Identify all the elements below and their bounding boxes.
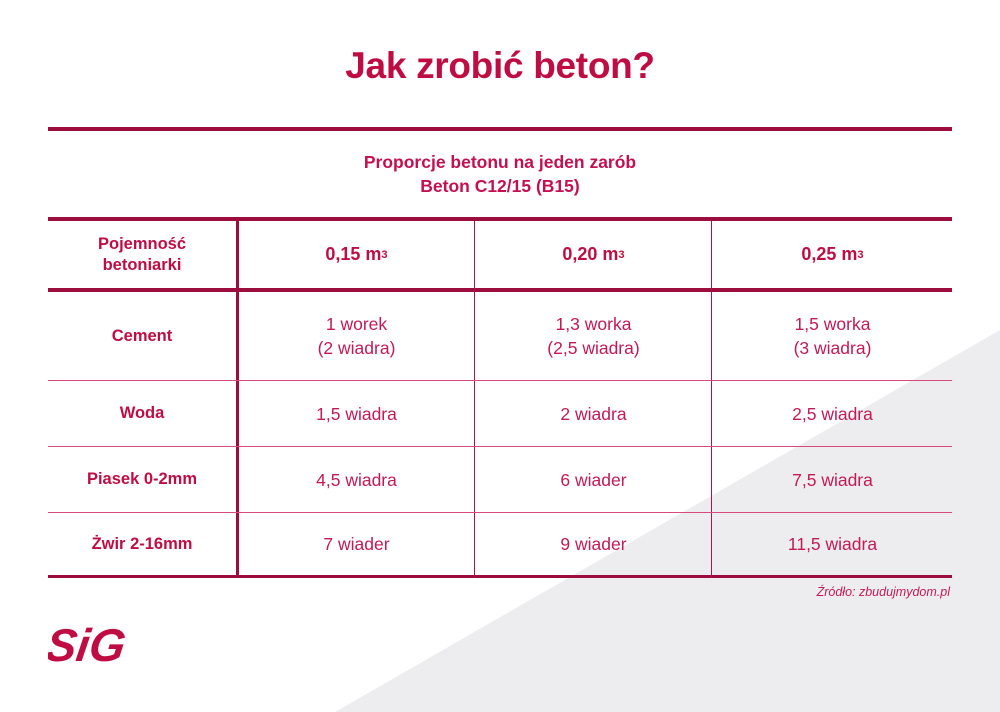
table-cell-piasek-2: 6 wiader [476, 447, 711, 512]
table-header-col-3: 0,25 m3 [713, 221, 952, 288]
subtitle-line-1: Proporcje betonu na jeden zarób [0, 150, 1000, 174]
table-header-label: Pojemność betoniarki [48, 221, 236, 288]
table-cell-cement-2: 1,3 worka (2,5 wiadra) [476, 292, 711, 380]
subtitle-line-2: Beton C12/15 (B15) [0, 174, 1000, 198]
table-cell-woda-3: 2,5 wiadra [713, 381, 952, 446]
table-row-label-woda: Woda [48, 381, 236, 446]
cell-line-2: (2 wiadra) [318, 336, 396, 360]
table-cell-piasek-3: 7,5 wiadra [713, 447, 952, 512]
table-header-col-1: 0,15 m3 [239, 221, 474, 288]
sig-logo: SiG [48, 618, 168, 674]
table-header-col-2: 0,20 m3 [476, 221, 711, 288]
cell-line-2: (3 wiadra) [794, 336, 872, 360]
header-col-3-value: 0,25 m [801, 244, 857, 265]
cell-line-2: (2,5 wiadra) [547, 336, 639, 360]
table-cell-piasek-1: 4,5 wiadra [239, 447, 474, 512]
page-title: Jak zrobić beton? [0, 45, 1000, 87]
table-cell-zwir-1: 7 wiader [239, 513, 474, 575]
cell-line-1: 1 worek [318, 312, 396, 336]
header-col-2-value: 0,20 m [562, 244, 618, 265]
table-cell-cement-3: 1,5 worka (3 wiadra) [713, 292, 952, 380]
table-row-label-zwir: Żwir 2-16mm [48, 513, 236, 575]
cell-line-1: 1,3 worka [547, 312, 639, 336]
rule-top-divider [48, 127, 952, 131]
cell-line-1: 1,5 worka [794, 312, 872, 336]
table-cell-woda-2: 2 wiadra [476, 381, 711, 446]
source-attribution: Źródło: zbudujmydom.pl [817, 585, 950, 599]
table-cell-zwir-2: 9 wiader [476, 513, 711, 575]
table-cell-woda-1: 1,5 wiadra [239, 381, 474, 446]
sig-logo-text: SiG [48, 619, 129, 671]
header-col-1-value: 0,15 m [325, 244, 381, 265]
subtitle: Proporcje betonu na jeden zarób Beton C1… [0, 150, 1000, 198]
table-bottom-rule [48, 575, 952, 578]
table-cell-cement-1: 1 worek (2 wiadra) [239, 292, 474, 380]
header-label-line-1: Pojemność [98, 234, 186, 255]
infographic-page: Jak zrobić beton? Proporcje betonu na je… [0, 0, 1000, 712]
table-cell-zwir-3: 11,5 wiadra [713, 513, 952, 575]
table-row-label-cement: Cement [48, 292, 236, 380]
table-row-label-piasek: Piasek 0-2mm [48, 447, 236, 512]
header-label-line-2: betoniarki [98, 255, 186, 276]
